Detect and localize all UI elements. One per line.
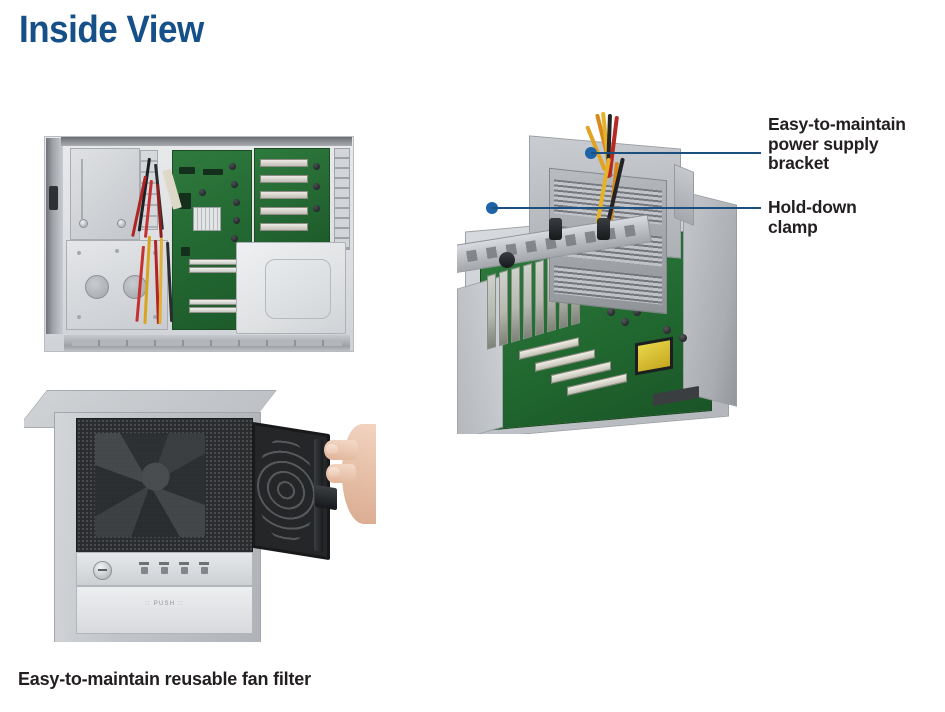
callout-line-3: bracket	[768, 154, 906, 174]
pci-card	[487, 273, 496, 350]
bay-screw	[117, 219, 126, 228]
plate-rivet	[115, 249, 119, 253]
chassis-front-lip	[64, 335, 350, 351]
clamp-knob	[597, 218, 610, 240]
expansion-slot	[260, 223, 308, 231]
dimm-slot	[189, 259, 243, 265]
pci-card	[523, 263, 532, 340]
callout-label-hold-down-clamp: Hold-down clamp	[768, 198, 857, 237]
capacitor	[621, 318, 629, 326]
hand	[324, 424, 376, 528]
hdd-led-icon	[179, 562, 189, 575]
clamp-knob	[549, 218, 562, 240]
capacitor	[199, 189, 206, 196]
caption-fan-filter: Easy-to-maintain reusable fan filter	[18, 669, 311, 690]
page-title: Inside View	[19, 7, 204, 53]
plate-cutout	[123, 275, 147, 299]
callout-line-1: Hold-down	[768, 198, 857, 218]
figure-fan-filter-view: :: PUSH ::	[24, 390, 376, 642]
capacitor	[231, 235, 238, 242]
callout-leader-power-supply-bracket	[591, 152, 761, 154]
capacitor	[229, 163, 236, 170]
chassis-left-rail	[46, 138, 63, 334]
bezel-door[interactable]: :: PUSH ::	[76, 586, 253, 634]
fingernail	[328, 467, 340, 477]
dimm-slot	[189, 299, 243, 305]
pci-card	[499, 270, 508, 347]
clamp-knob	[499, 252, 515, 268]
cpu-socket	[635, 337, 673, 376]
fan-mesh-grille	[76, 418, 253, 553]
fan-blades	[95, 433, 205, 537]
figure-chassis-top-view	[44, 136, 354, 352]
temp-led-icon	[199, 562, 209, 575]
expansion-card-bank	[254, 148, 330, 246]
plate-rivet	[77, 251, 81, 255]
expansion-slot	[260, 207, 308, 215]
dimm-slot	[189, 267, 243, 273]
fingernail	[326, 444, 338, 454]
psu-vents	[554, 265, 662, 304]
filter-ring-grille	[257, 434, 315, 547]
bracket-tab	[674, 164, 694, 226]
fan-filter-tray[interactable]	[252, 422, 330, 560]
rear-slot-brackets	[334, 148, 350, 250]
plate-cutout	[85, 275, 109, 299]
capacitor	[233, 217, 240, 224]
callout-label-power-supply-bracket: Easy-to-maintain power supply bracket	[768, 115, 906, 174]
power-led-icon	[139, 562, 149, 575]
bay-screw	[79, 219, 88, 228]
optical-drive-cover	[236, 242, 346, 334]
plate-rivet	[77, 315, 81, 319]
callout-line-1: Easy-to-maintain	[768, 115, 906, 135]
capacitor	[233, 199, 240, 206]
expansion-slot	[260, 175, 308, 183]
callout-leader-hold-down-clamp	[492, 207, 761, 209]
dimm-slot	[189, 307, 243, 313]
push-label: :: PUSH ::	[77, 601, 252, 607]
capacitor	[679, 334, 687, 342]
capacitor	[231, 181, 238, 188]
figure-psu-bracket-view	[457, 112, 737, 434]
fan-led-icon	[159, 562, 169, 575]
chipset-heatsink	[193, 207, 221, 231]
front-panel	[76, 552, 253, 586]
key-lock-icon[interactable]	[93, 561, 112, 580]
hdd-mount-plate	[66, 240, 168, 330]
pcb-chip	[203, 169, 223, 175]
capacitor	[607, 308, 615, 316]
callout-line-2: power supply	[768, 135, 906, 155]
pci-card	[511, 266, 520, 343]
expansion-slot	[260, 159, 308, 167]
expansion-slot	[260, 191, 308, 199]
callout-line-2: clamp	[768, 218, 857, 238]
capacitor	[313, 205, 320, 212]
capacitor	[313, 163, 320, 170]
drive-bay-block	[70, 148, 140, 240]
pcb-chip	[179, 167, 195, 174]
capacitor	[313, 183, 320, 190]
pcb-chip	[181, 247, 190, 256]
capacitor	[663, 326, 671, 334]
pci-card	[535, 259, 544, 336]
chassis-top-lip	[61, 137, 352, 146]
